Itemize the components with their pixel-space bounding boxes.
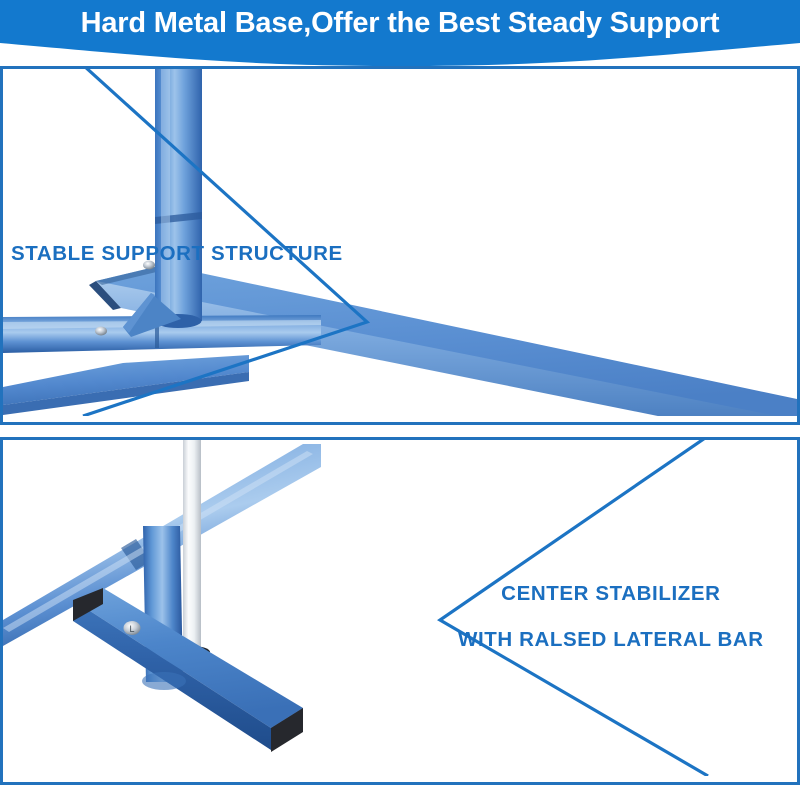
panel-1-stage: STABLE SUPPORT STRUCTURE xyxy=(3,69,797,422)
screw-mark: L xyxy=(129,624,134,634)
panel-2-stage: L CENTER STABILIZER WITH RALSED LATERAL … xyxy=(3,440,797,782)
screw-lower xyxy=(95,327,107,336)
header-banner: Hard Metal Base,Offer the Best Steady Su… xyxy=(0,0,800,70)
vertical-pole xyxy=(155,69,203,328)
panel-2-caption-line-2: WITH RALSED LATERAL BAR xyxy=(458,628,764,652)
panel-2-caption: CENTER STABILIZER WITH RALSED LATERAL BA… xyxy=(458,582,764,674)
panel-center-stabilizer: L CENTER STABILIZER WITH RALSED LATERAL … xyxy=(0,437,800,785)
infographic-page: Hard Metal Base,Offer the Best Steady Su… xyxy=(0,0,800,800)
page-title: Hard Metal Base,Offer the Best Steady Su… xyxy=(0,0,800,46)
panel-1-caption: STABLE SUPPORT STRUCTURE xyxy=(11,242,343,266)
panel-2-caption-line-1: CENTER STABILIZER xyxy=(458,582,764,606)
base-bar-left xyxy=(3,355,249,415)
panel-stable-support-structure: STABLE SUPPORT STRUCTURE xyxy=(0,66,800,425)
